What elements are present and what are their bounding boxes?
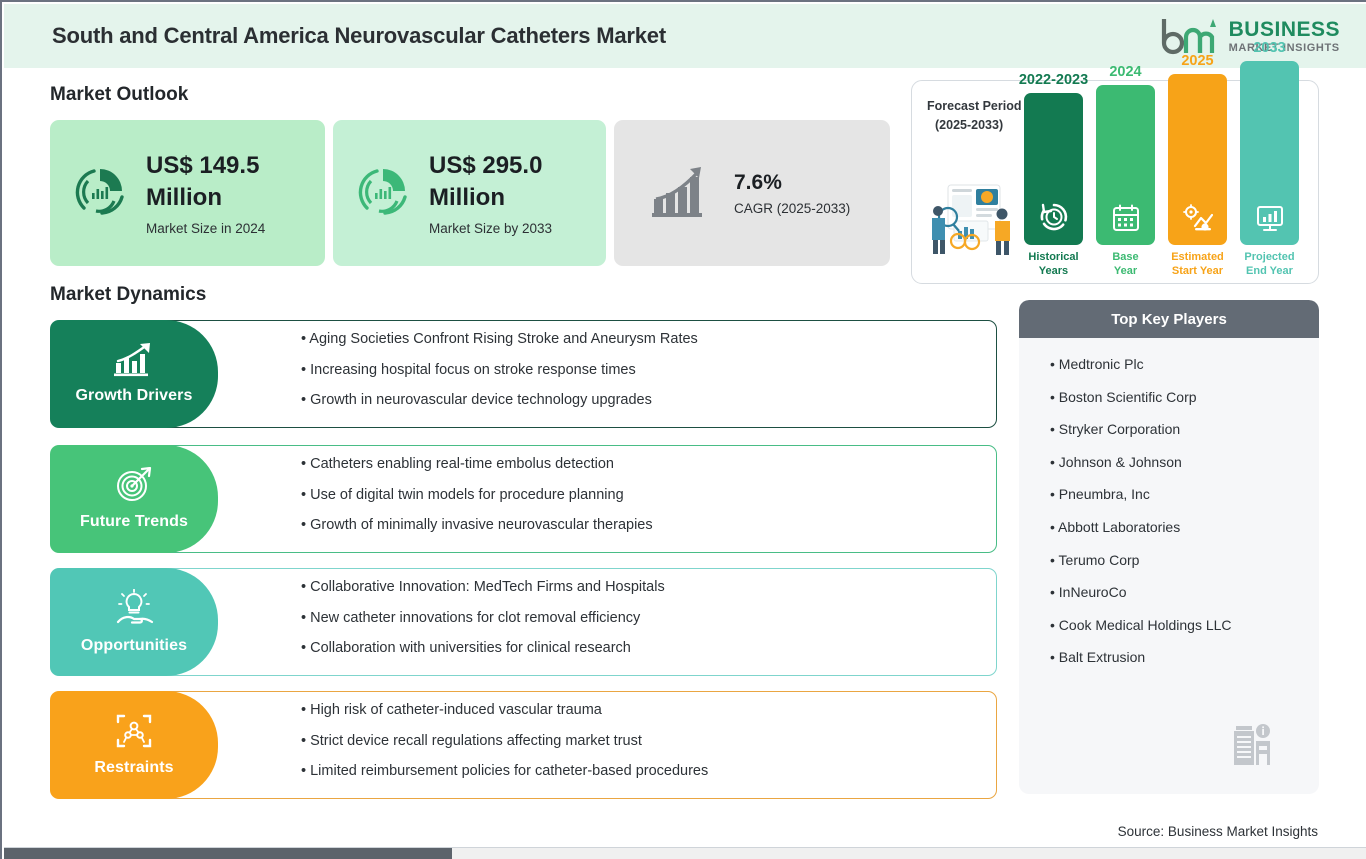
key-player-item: • Medtronic Plc [1050,356,1319,372]
market-outlook-title: Market Outlook [50,84,188,106]
kpi-value-line1: US$ 149.5 [146,150,265,182]
forecast-bar-caption: Estimated Start Year [1171,251,1224,279]
key-player-item: • Terumo Corp [1050,552,1319,568]
dynamics-bullet: • Catheters enabling real-time embolus d… [301,457,996,472]
dynamics-tab-label: Future Trends [80,513,188,531]
dynamics-bullet: • Collaboration with universities for cl… [301,641,996,656]
forecast-bar-2024: 2024Base Year [1096,64,1155,279]
key-player-item: • InNeuroCo [1050,584,1319,600]
forecast-bar-caption: Historical Years [1028,251,1078,279]
key-player-item: • Balt Extrusion [1050,649,1319,665]
forecast-bar-caption: Projected End Year [1244,251,1294,279]
analytics-team-illustration [926,181,1016,256]
dynamics-bullet: • Use of digital twin models for procedu… [301,488,996,503]
bar-growth-icon [114,343,154,382]
kpi-label: Market Size in 2024 [146,221,265,236]
scrollbar-thumb[interactable] [4,848,452,859]
market-dynamics-title: Market Dynamics [50,284,206,306]
dynamics-tab-restraints[interactable]: Restraints [50,691,218,799]
horizontal-scrollbar[interactable] [4,847,1366,859]
dynamics-tab-label: Opportunities [81,637,187,655]
forecast-title: Forecast Period (2025-2033) [927,97,1021,136]
molecule-brackets-icon [115,713,153,754]
dynamics-bullet: • Growth in neurovascular device technol… [301,393,996,408]
forecast-bar-year-label: 2025 [1181,53,1213,69]
dynamics-bullet: • Increasing hospital focus on stroke re… [301,363,996,378]
top-key-players-panel: Top Key Players • Medtronic Plc• Boston … [1019,300,1319,794]
key-players-list: • Medtronic Plc• Boston Scientific Corp•… [1019,338,1319,665]
forecast-bar-2025: 2025Estimated Start Year [1168,53,1227,279]
forecast-bar-year-label: 2024 [1109,64,1141,80]
dynamics-bullet: • New catheter innovations for clot remo… [301,611,996,626]
forecast-title-line2: (2025-2033) [927,116,1021,135]
forecast-bar-caption: Base Year [1112,251,1138,279]
forecast-title-line1: Forecast Period [927,97,1021,116]
kpi-value-line2: Million [146,182,265,214]
dynamics-bullet: • Strict device recall regulations affec… [301,734,996,749]
forecast-bar-year-label: 2033 [1253,40,1285,56]
forecast-bar-2022-2023: 2022-2023Historical Years [1024,72,1083,279]
dynamics-bullet: • Aging Societies Confront Rising Stroke… [301,332,996,347]
dynamics-bullets-panel: • High risk of catheter-induced vascular… [158,691,997,799]
dynamics-row-opportunities: • Collaborative Innovation: MedTech Firm… [50,568,997,676]
kpi-value: 7.6% [734,171,850,195]
donut-chart-icon [355,163,411,224]
infographic-page: South and Central America Neurovascular … [0,0,1366,859]
company-info-icon [1230,723,1274,774]
presentation-chart-icon [1240,61,1299,245]
dynamics-bullets-panel: • Aging Societies Confront Rising Stroke… [158,320,997,428]
kpi-label: Market Size by 2033 [429,221,552,236]
dynamics-row-restraints: • High risk of catheter-induced vascular… [50,691,997,799]
key-player-item: • Abbott Laboratories [1050,519,1319,535]
page-title: South and Central America Neurovascular … [52,23,666,49]
target-arrow-icon [115,467,153,508]
key-player-item: • Johnson & Johnson [1050,454,1319,470]
dynamics-tab-opportunities[interactable]: Opportunities [50,568,218,676]
dynamics-bullets-panel: • Collaborative Innovation: MedTech Firm… [158,568,997,676]
key-player-item: • Boston Scientific Corp [1050,389,1319,405]
dynamics-bullets-panel: • Catheters enabling real-time embolus d… [158,445,997,553]
kpi-card-market-size-2024: US$ 149.5 Million Market Size in 2024 [50,120,325,266]
calendar-icon [1096,85,1155,245]
forecast-bars: 2022-2023Historical Years2024Base Year20… [1024,91,1312,279]
dynamics-row-growth-drivers: • Aging Societies Confront Rising Stroke… [50,320,997,428]
lightbulb-hand-icon [114,589,154,632]
forecast-period-card: Forecast Period (2025-2033) [911,80,1319,284]
kpi-label: CAGR (2025-2033) [734,201,850,216]
growth-arrow-icon [650,163,712,224]
key-player-item: • Stryker Corporation [1050,421,1319,437]
bmi-logo-icon [1160,17,1220,55]
key-player-item: • Cook Medical Holdings LLC [1050,617,1319,633]
logo-name: BUSINESS [1229,19,1340,40]
kpi-value-line1: US$ 295.0 [429,150,552,182]
dynamics-tab-label: Growth Drivers [76,387,193,405]
key-player-item: • Pneumbra, Inc [1050,486,1319,502]
dynamics-bullet: • Collaborative Innovation: MedTech Firm… [301,580,996,595]
forecast-bar-year-label: 2022-2023 [1019,72,1088,88]
kpi-card-market-size-2033: US$ 295.0 Million Market Size by 2033 [333,120,606,266]
source-note: Source: Business Market Insights [1118,824,1318,839]
dynamics-bullet: • Growth of minimally invasive neurovasc… [301,518,996,533]
dynamics-tab-label: Restraints [94,759,173,777]
dynamics-tab-future-trends[interactable]: Future Trends [50,445,218,553]
history-clock-icon [1024,93,1083,245]
donut-chart-icon [72,163,128,224]
gear-chart-icon [1168,74,1227,245]
dynamics-row-future-trends: • Catheters enabling real-time embolus d… [50,445,997,553]
dynamics-bullet: • High risk of catheter-induced vascular… [301,703,996,718]
page-header: South and Central America Neurovascular … [4,4,1366,68]
forecast-bar-2033: 2033Projected End Year [1240,40,1299,279]
key-players-title: Top Key Players [1019,300,1319,338]
kpi-value-line2: Million [429,182,552,214]
dynamics-tab-growth-drivers[interactable]: Growth Drivers [50,320,218,428]
kpi-card-cagr: 7.6% CAGR (2025-2033) [614,120,890,266]
dynamics-bullet: • Limited reimbursement policies for cat… [301,764,996,779]
